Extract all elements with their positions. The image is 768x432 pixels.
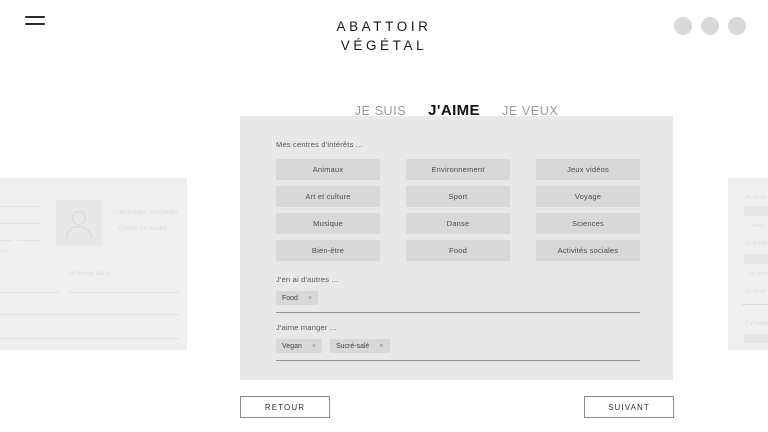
chip-sucre-sale[interactable]: Sucré-salé × [330, 339, 390, 353]
interest-environnement[interactable]: Environnement [406, 159, 510, 180]
next-button[interactable]: SUIVANT [584, 396, 674, 418]
eat-label: J'aime manger ... [276, 323, 337, 332]
avatar[interactable] [701, 17, 719, 35]
interests-grid: Animaux Environnement Jeux vidéos Art et… [276, 159, 640, 261]
next-card-preview[interactable]: Je veux ... avec ... Je préfère ... Je p… [728, 178, 768, 350]
avatar-body [66, 226, 92, 239]
interest-animaux[interactable]: Animaux [276, 159, 380, 180]
ghost-label: Je veux ... [744, 194, 768, 201]
others-underline [276, 312, 640, 313]
app-header: ABATTOIR VÉGÉTAL [0, 0, 768, 72]
ghost-rule [0, 314, 180, 315]
avatar[interactable] [728, 17, 746, 35]
ghost-photo-action: Télécharger une photo [112, 209, 177, 216]
avatar-head [72, 211, 86, 225]
ghost-rule [68, 292, 180, 293]
ghost-label: Je préfère ... [744, 240, 768, 247]
ghost-rule [0, 240, 12, 241]
ghost-box [744, 206, 768, 216]
logo-line-1: ABATTOIR [0, 17, 768, 36]
chip-label: Food [282, 295, 298, 302]
chip-vegan[interactable]: Vegan × [276, 339, 322, 353]
avatar[interactable] [674, 17, 692, 35]
chip-remove-icon[interactable]: × [379, 343, 383, 350]
jaime-card: Mes centres d'intérêts ... Animaux Envir… [240, 116, 673, 380]
interest-jeux-videos[interactable]: Jeux vidéos [536, 159, 640, 180]
tab-je-veux[interactable]: JE VEUX [500, 102, 560, 120]
back-button[interactable]: RETOUR [240, 396, 330, 418]
interest-voyage[interactable]: Voyage [536, 186, 640, 207]
others-label: J'en ai d'autres ... [276, 275, 338, 284]
interest-sport[interactable]: Sport [406, 186, 510, 207]
ghost-rule [18, 240, 40, 241]
ghost-label: Je bosse dans ... [68, 270, 117, 277]
chip-label: Sucré-salé [336, 343, 369, 350]
ghost-label: Je veux ... [744, 288, 768, 295]
ghost-label: avec ... [752, 222, 768, 229]
brand-logo: ABATTOIR VÉGÉTAL [0, 17, 768, 55]
ghost-label: Mon domaine [0, 248, 7, 255]
chip-label: Vegan [282, 343, 302, 350]
interests-label: Mes centres d'intérêts ... [276, 140, 363, 149]
tab-je-suis[interactable]: JE SUIS [353, 102, 408, 120]
eat-chips: Vegan × Sucré-salé × [276, 339, 390, 353]
interest-sciences[interactable]: Sciences [536, 213, 640, 234]
ghost-label: Mes mots ... [0, 296, 3, 303]
avatar-placeholder-icon [56, 200, 102, 246]
ghost-box [744, 254, 768, 264]
logo-line-2: VÉGÉTAL [0, 36, 768, 55]
interest-danse[interactable]: Danse [406, 213, 510, 234]
interest-bien-etre[interactable]: Bien-être [276, 240, 380, 261]
interest-art-et-culture[interactable]: Art et culture [276, 186, 380, 207]
ghost-rule [0, 338, 180, 339]
ghost-label: Je pourrais ... [748, 270, 768, 277]
ghost-slider-track[interactable] [742, 304, 768, 305]
chip-remove-icon[interactable]: × [308, 295, 312, 302]
tab-jaime[interactable]: J'AIME [426, 100, 482, 121]
interest-food[interactable]: Food [406, 240, 510, 261]
chip-food[interactable]: Food × [276, 291, 318, 305]
avatar-group [674, 17, 746, 35]
chip-remove-icon[interactable]: × [312, 343, 316, 350]
ghost-rule [0, 292, 60, 293]
previous-card-preview[interactable]: Mon domaine Télécharger une photo Choisi… [0, 178, 187, 350]
ghost-avatar-action: Choisir un avatar [118, 225, 167, 232]
ghost-rule [0, 206, 40, 207]
ghost-box [744, 334, 768, 343]
step-tabs: JE SUIS J'AIME JE VEUX [240, 100, 673, 121]
interest-musique[interactable]: Musique [276, 213, 380, 234]
ghost-rule [0, 223, 40, 224]
others-chips: Food × [276, 291, 318, 305]
interest-activites-sociales[interactable]: Activités sociales [536, 240, 640, 261]
ghost-label: J'ai peur ... [744, 320, 768, 327]
eat-underline [276, 360, 640, 361]
